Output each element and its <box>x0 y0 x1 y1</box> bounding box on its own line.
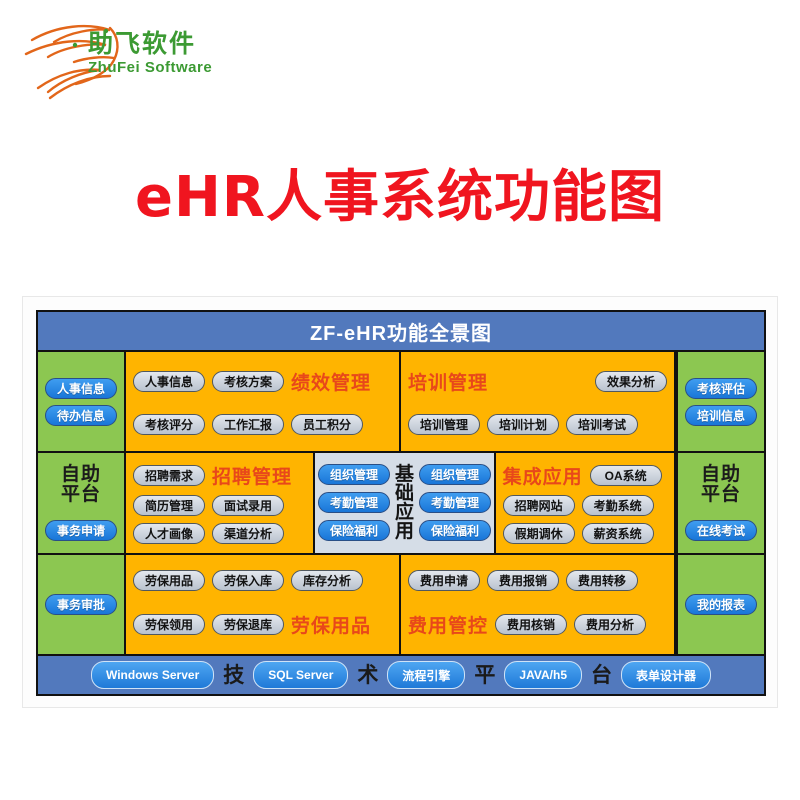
right-rail-row3: 我的报表 <box>676 555 764 654</box>
diagram-row-3: 事务审批 劳保用品 劳保入库 库存分析 劳保领用 劳保退库 劳保用品 <box>38 555 764 654</box>
pill-oa-system[interactable]: OA系统 <box>590 465 662 486</box>
rail-pill-training-info[interactable]: 培训信息 <box>685 405 757 426</box>
left-rail-title-line1: 自助 <box>61 464 101 485</box>
rail-pill-personnel-info[interactable]: 人事信息 <box>45 378 117 399</box>
pill-insurance-benefits-left[interactable]: 保险福利 <box>318 520 390 541</box>
pill-training-exam[interactable]: 培训考试 <box>566 414 638 435</box>
diagram-rows: 人事信息 待办信息 人事信息 考核方案 绩效管理 考核评分 工作汇报 <box>38 352 764 654</box>
panel-recruitment-management: 招聘需求 招聘管理 简历管理 面试录用 人才画像 渠道分析 <box>126 453 315 552</box>
tech-pill-form-designer[interactable]: 表单设计器 <box>621 661 711 689</box>
pill-labor-return[interactable]: 劳保退库 <box>212 614 284 635</box>
pill-expense-writeoff[interactable]: 费用核销 <box>495 614 567 635</box>
section-title-performance-management: 绩效管理 <box>291 368 371 395</box>
pill-insurance-benefits-right[interactable]: 保险福利 <box>419 520 491 541</box>
logo-wordmark: 助飞软件 ZhuFei Software <box>88 32 212 78</box>
pill-attendance-system[interactable]: 考勤系统 <box>582 495 654 516</box>
pill-inventory-analysis[interactable]: 库存分析 <box>291 570 363 591</box>
pill-labor-inbound[interactable]: 劳保入库 <box>212 570 284 591</box>
rail-pill-online-exam[interactable]: 在线考试 <box>685 520 757 541</box>
pill-assessment-score[interactable]: 考核评分 <box>133 414 205 435</box>
pill-interview-hiring[interactable]: 面试录用 <box>212 495 284 516</box>
right-rail-row1: 考核评估 培训信息 <box>676 352 764 451</box>
technology-platform-bar: Windows Server 技 SQL Server 术 流程引擎 平 JAV… <box>38 654 764 694</box>
panel-basic-application: 组织管理 考勤管理 保险福利 基 础 应 用 组织管理 考勤管理 <box>315 453 495 552</box>
pill-org-management-right[interactable]: 组织管理 <box>419 464 491 485</box>
left-rail-title-line2: 平台 <box>61 484 101 505</box>
pill-expense-analysis[interactable]: 费用分析 <box>574 614 646 635</box>
pill-expense-transfer[interactable]: 费用转移 <box>566 570 638 591</box>
right-rail-title-line1: 自助 <box>701 464 741 485</box>
pill-channel-analysis[interactable]: 渠道分析 <box>212 523 284 544</box>
pill-talent-profile[interactable]: 人才画像 <box>133 523 205 544</box>
tech-pill-windows-server[interactable]: Windows Server <box>91 661 214 689</box>
pill-effect-analysis[interactable]: 效果分析 <box>595 371 667 392</box>
pill-employee-points[interactable]: 员工积分 <box>291 414 363 435</box>
basic-application-right-column: 组织管理 考勤管理 保险福利 <box>419 464 491 541</box>
panel-expense-control: 费用申请 费用报销 费用转移 费用管控 费用核销 费用分析 <box>401 555 676 654</box>
diagram-card: ZF-eHR功能全景图 人事信息 待办信息 人事信息 考核方案 绩效管理 <box>22 296 778 708</box>
pill-attendance-management-right[interactable]: 考勤管理 <box>419 492 491 513</box>
pill-labor-supplies[interactable]: 劳保用品 <box>133 570 205 591</box>
vlabel-char-3: 应 <box>395 503 414 522</box>
section-title-recruitment-management: 招聘管理 <box>212 462 292 489</box>
section-title-basic-application: 基 础 应 用 <box>394 465 415 541</box>
pill-assessment-plan[interactable]: 考核方案 <box>212 371 284 392</box>
ehr-function-diagram: ZF-eHR功能全景图 人事信息 待办信息 人事信息 考核方案 绩效管理 <box>36 310 766 696</box>
tech-char-shu: 术 <box>357 665 378 686</box>
section-title-training-management: 培训管理 <box>408 368 488 395</box>
pill-training-management[interactable]: 培训管理 <box>408 414 480 435</box>
section-title-integrated-application: 集成应用 <box>503 462 583 489</box>
pill-expense-reimbursement[interactable]: 费用报销 <box>487 570 559 591</box>
diagram-banner: ZF-eHR功能全景图 <box>38 312 764 352</box>
vlabel-char-1: 基 <box>395 465 414 484</box>
pill-labor-collection[interactable]: 劳保领用 <box>133 614 205 635</box>
tech-char-ping: 平 <box>474 665 495 686</box>
tech-char-ji: 技 <box>223 665 244 686</box>
pill-recruitment-website[interactable]: 招聘网站 <box>503 495 575 516</box>
tech-pill-java-h5[interactable]: JAVA/h5 <box>504 661 582 689</box>
section-title-expense-control: 费用管控 <box>408 611 488 638</box>
pill-resume-management[interactable]: 简历管理 <box>133 495 205 516</box>
pill-recruitment-demand[interactable]: 招聘需求 <box>133 465 205 486</box>
rail-pill-assessment-evaluation[interactable]: 考核评估 <box>685 378 757 399</box>
pill-org-management-left[interactable]: 组织管理 <box>318 464 390 485</box>
right-rail-title-self-service: 自助 平台 <box>701 465 741 505</box>
pill-payroll-system[interactable]: 薪资系统 <box>582 523 654 544</box>
right-rail-title-line2: 平台 <box>701 484 741 505</box>
diagram-row-2: 自助 平台 事务申请 招聘需求 招聘管理 简历管理 面试录用 <box>38 453 764 554</box>
pill-holiday-adjustment[interactable]: 假期调休 <box>503 523 575 544</box>
section-title-labor-protection-supplies: 劳保用品 <box>291 611 371 638</box>
pill-work-report[interactable]: 工作汇报 <box>212 414 284 435</box>
pill-training-plan[interactable]: 培训计划 <box>487 414 559 435</box>
panel-training-management: 培训管理 效果分析 培训管理 培训计划 培训考试 <box>401 352 676 451</box>
tech-pill-sql-server[interactable]: SQL Server <box>253 661 348 689</box>
diagram-row-1: 人事信息 待办信息 人事信息 考核方案 绩效管理 考核评分 工作汇报 <box>38 352 764 453</box>
panel-labor-protection-supplies: 劳保用品 劳保入库 库存分析 劳保领用 劳保退库 劳保用品 <box>126 555 401 654</box>
tech-pill-process-engine[interactable]: 流程引擎 <box>387 661 465 689</box>
left-rail-row3: 事务审批 <box>38 555 126 654</box>
rail-pill-my-reports[interactable]: 我的报表 <box>685 594 757 615</box>
logo-text-cn: 助飞软件 <box>88 32 212 57</box>
right-rail-row2: 自助 平台 在线考试 <box>676 453 764 552</box>
left-rail-row1: 人事信息 待办信息 <box>38 352 126 451</box>
rail-pill-affair-application[interactable]: 事务申请 <box>45 520 117 541</box>
vlabel-char-2: 础 <box>395 484 414 503</box>
logo-text-en: ZhuFei Software <box>88 57 212 78</box>
pill-attendance-management-left[interactable]: 考勤管理 <box>318 492 390 513</box>
vlabel-char-4: 用 <box>395 522 414 541</box>
tech-char-tai: 台 <box>591 665 612 686</box>
rail-pill-todo-info[interactable]: 待办信息 <box>45 405 117 426</box>
panel-integrated-application: 集成应用 OA系统 招聘网站 考勤系统 假期调休 薪资系统 <box>496 453 676 552</box>
brand-logo: 助飞软件 ZhuFei Software <box>0 0 320 110</box>
left-rail-title-self-service: 自助 平台 <box>61 465 101 505</box>
pill-expense-application[interactable]: 费用申请 <box>408 570 480 591</box>
page-title: eHR人事系统功能图 <box>0 152 800 233</box>
pill-personnel-info[interactable]: 人事信息 <box>133 371 205 392</box>
panel-performance-management: 人事信息 考核方案 绩效管理 考核评分 工作汇报 员工积分 <box>126 352 401 451</box>
rail-pill-affair-approval[interactable]: 事务审批 <box>45 594 117 615</box>
left-rail-row2: 自助 平台 事务申请 <box>38 453 126 552</box>
basic-application-left-column: 组织管理 考勤管理 保险福利 <box>318 464 390 541</box>
